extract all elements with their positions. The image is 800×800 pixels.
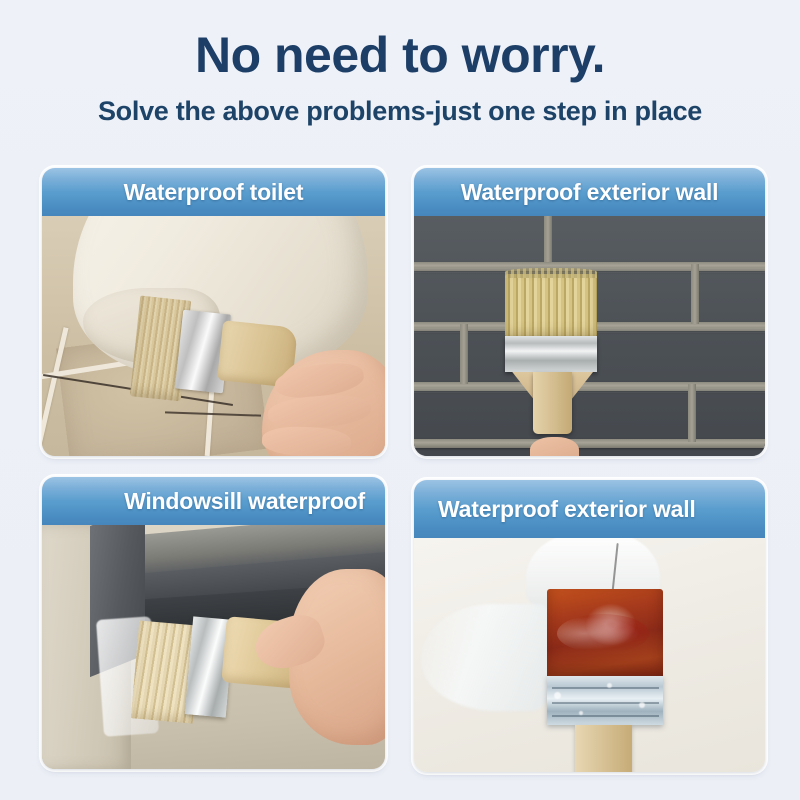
card-label: Waterproof exterior wall xyxy=(430,179,749,206)
coating-swirl xyxy=(557,614,650,653)
feature-card-grid: Waterproof toilet Waterproof exterior wa… xyxy=(0,0,800,800)
brick-joint xyxy=(544,216,552,262)
card-banner: Waterproof exterior wall xyxy=(414,480,765,538)
water-stream xyxy=(421,604,554,712)
card-banner: Waterproof toilet xyxy=(42,168,385,216)
brush-ferrule xyxy=(505,336,596,372)
brick-highlight xyxy=(414,388,765,393)
brick-joint xyxy=(691,264,699,324)
toilet-base-waterproofing-photo xyxy=(42,216,385,456)
card-label: Windowsill waterproof xyxy=(58,488,369,515)
brush-bristles xyxy=(505,274,596,336)
finger xyxy=(261,426,351,456)
card-waterproof-exterior-wall-brick[interactable]: Waterproof exterior wall xyxy=(414,168,765,456)
card-label: Waterproof toilet xyxy=(58,179,369,206)
brick-joint xyxy=(460,324,468,384)
water-droplet xyxy=(639,702,645,708)
card-waterproof-exterior-wall-coating[interactable]: Waterproof exterior wall xyxy=(414,480,765,772)
waterproof-coating xyxy=(547,589,663,678)
card-banner: Waterproof exterior wall xyxy=(414,168,765,216)
ferrule-ridge xyxy=(552,687,659,689)
card-windowsill-waterproof[interactable]: Windowsill waterproof xyxy=(42,477,385,769)
brick-wall-waterproofing-photo xyxy=(414,216,765,456)
brush-handle xyxy=(575,725,631,772)
brush-handle xyxy=(533,372,572,434)
windowsill-waterproofing-photo xyxy=(42,525,385,769)
coating-brush-water-photo xyxy=(414,538,765,772)
card-label: Waterproof exterior wall xyxy=(430,496,749,523)
brush-ferrule xyxy=(547,676,663,725)
card-waterproof-toilet[interactable]: Waterproof toilet xyxy=(42,168,385,456)
card-banner: Windowsill waterproof xyxy=(42,477,385,525)
fingers xyxy=(530,437,579,456)
ferrule-ridge xyxy=(552,715,659,717)
brick-joint xyxy=(688,384,696,442)
mortar-line xyxy=(414,439,765,448)
